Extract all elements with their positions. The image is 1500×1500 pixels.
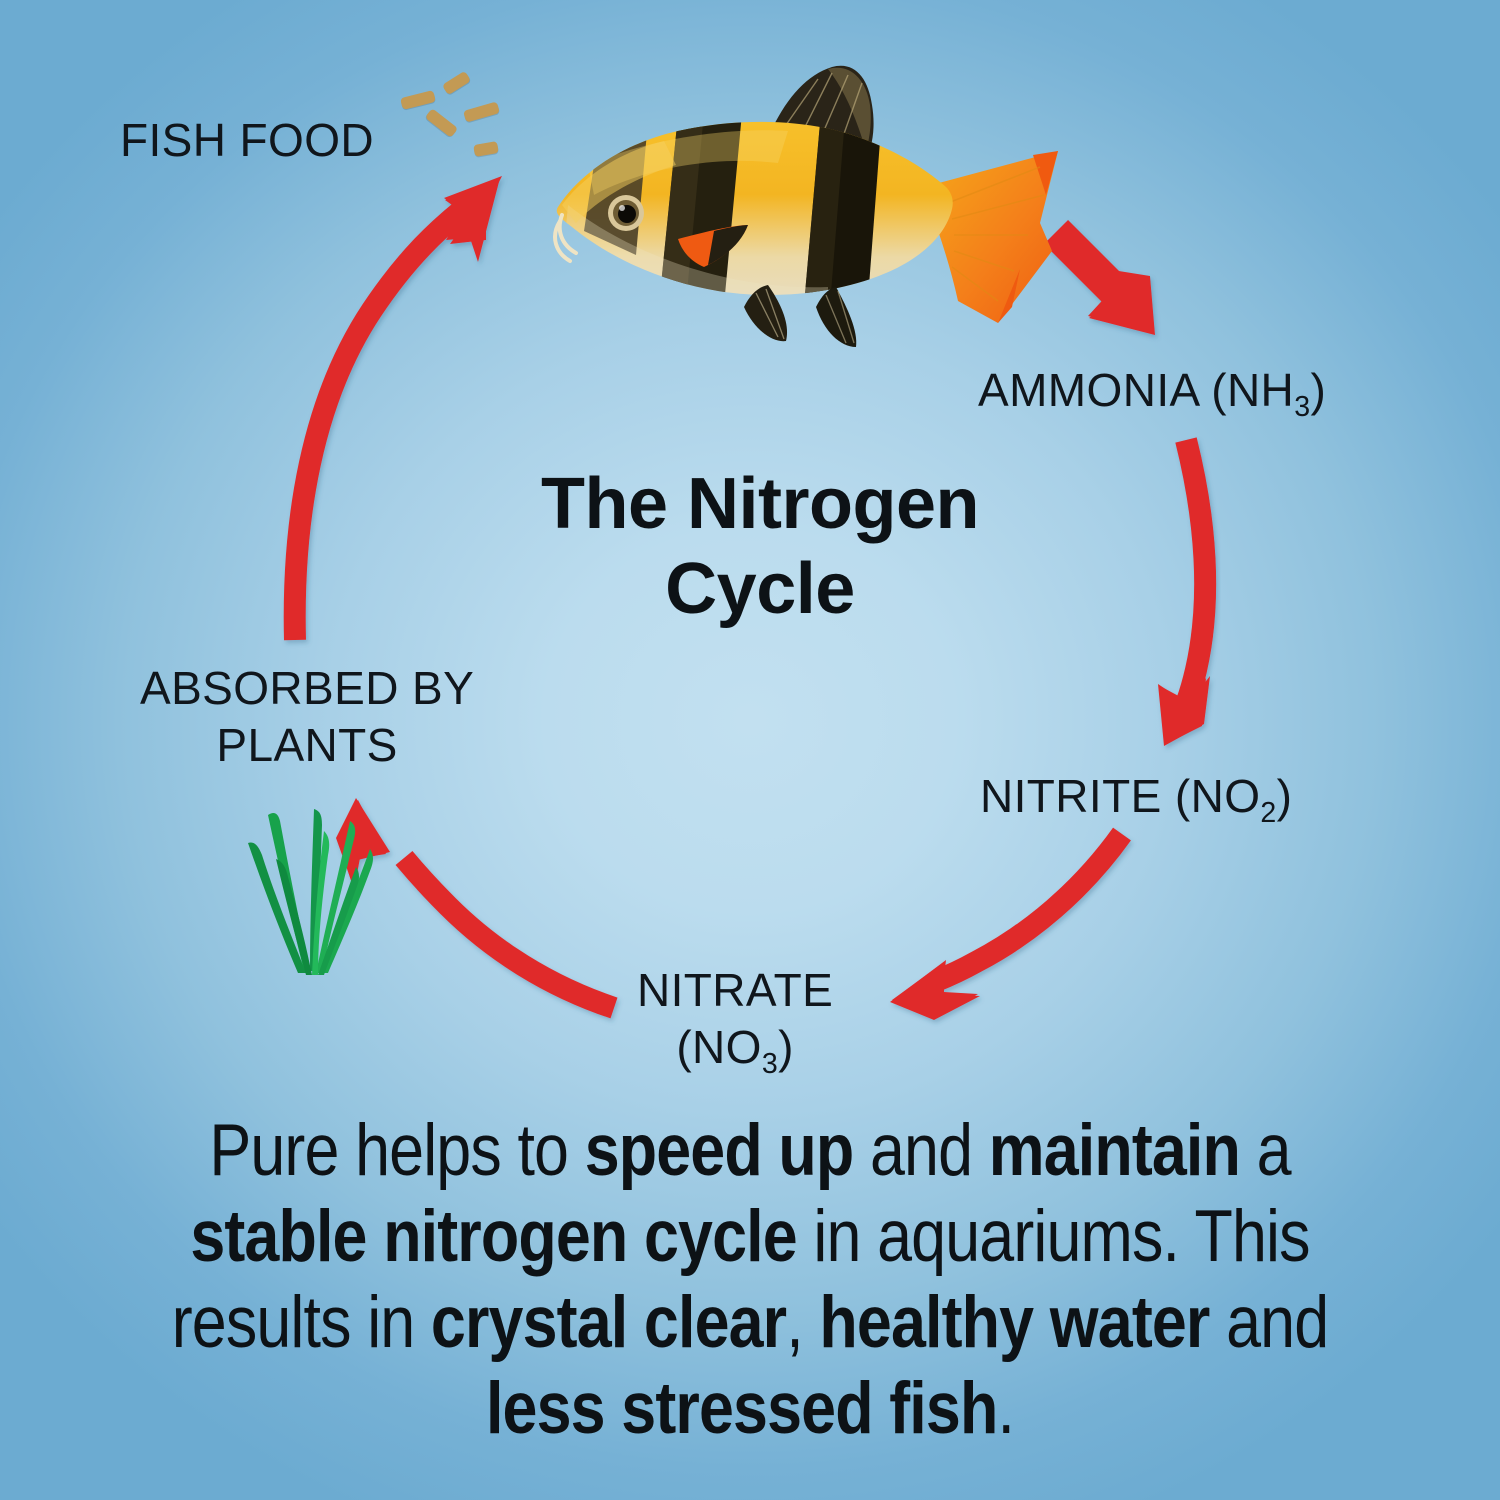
blurb-seg-5: , (786, 1282, 819, 1363)
arrow-fish-to-ammonia (1056, 232, 1155, 335)
blurb-bold-4: crystal clear (431, 1282, 786, 1363)
blurb-bold-2: maintain (989, 1110, 1240, 1191)
label-plants-line2: PLANTS (216, 719, 397, 771)
label-nitrite-subscript: 2 (1260, 797, 1276, 829)
label-nitrate-formula-head: (NO (676, 1021, 762, 1073)
label-nitrite: NITRITE (NO2) (980, 768, 1292, 825)
label-plants-line1: ABSORBED BY (140, 662, 474, 714)
label-ammonia: AMMONIA (NH3) (978, 362, 1326, 419)
blurb-bold-1: speed up (585, 1110, 854, 1191)
label-nitrate-formula-tail: ) (778, 1021, 794, 1073)
label-ammonia-text: AMMONIA (NH (978, 364, 1294, 416)
blurb-seg-6: and (1209, 1282, 1328, 1363)
blurb-seg-1: Pure helps to (209, 1110, 584, 1191)
label-ammonia-tail: ) (1310, 364, 1326, 416)
label-absorbed-by-plants: ABSORBED BYPLANTS (140, 660, 474, 774)
arrow-nitrite-to-nitrate (890, 834, 1122, 1020)
blurb-bold-3: stable nitrogen cycle (190, 1196, 796, 1277)
blurb-seg-2: and (853, 1110, 988, 1191)
label-nitrite-tail: ) (1277, 770, 1293, 822)
blurb-seg-3: a (1240, 1110, 1291, 1191)
label-nitrate-subscript: 3 (762, 1048, 778, 1080)
label-nitrate-line1: NITRATE (637, 964, 833, 1016)
aquarium-plants-icon (218, 775, 393, 995)
fish-tail-fin (924, 151, 1058, 323)
label-fish-food: FISH FOOD (120, 112, 374, 169)
blurb-bold-5: healthy water (819, 1282, 1209, 1363)
pellet-1 (400, 90, 436, 110)
fish-eye (608, 195, 644, 231)
label-nitrite-text: NITRITE (NO (980, 770, 1260, 822)
blurb-bold-6: less stressed fish (486, 1368, 997, 1449)
clown-loach-fish-icon (528, 55, 1068, 355)
product-blurb: Pure helps to speed up and maintain a st… (152, 1108, 1347, 1453)
label-ammonia-subscript: 3 (1294, 391, 1310, 423)
pellet-2 (442, 71, 471, 95)
pellet-3 (425, 108, 458, 138)
title-line-2: Cycle (440, 547, 1080, 632)
arrow-ammonia-to-nitrite (1158, 440, 1210, 746)
pellet-5 (473, 141, 499, 157)
label-nitrate: NITRATE(NO3) (637, 962, 833, 1076)
fish-anal-fin (816, 287, 856, 347)
page-title: The Nitrogen Cycle (440, 462, 1080, 632)
blurb-seg-7: . (997, 1368, 1014, 1449)
pellet-4 (463, 101, 500, 122)
title-line-1: The Nitrogen (440, 462, 1080, 547)
fish-bands (558, 113, 880, 315)
nitrogen-cycle-infographic: FISH FOOD AMMONIA (NH3) NITRITE (NO2) NI… (0, 0, 1500, 1500)
